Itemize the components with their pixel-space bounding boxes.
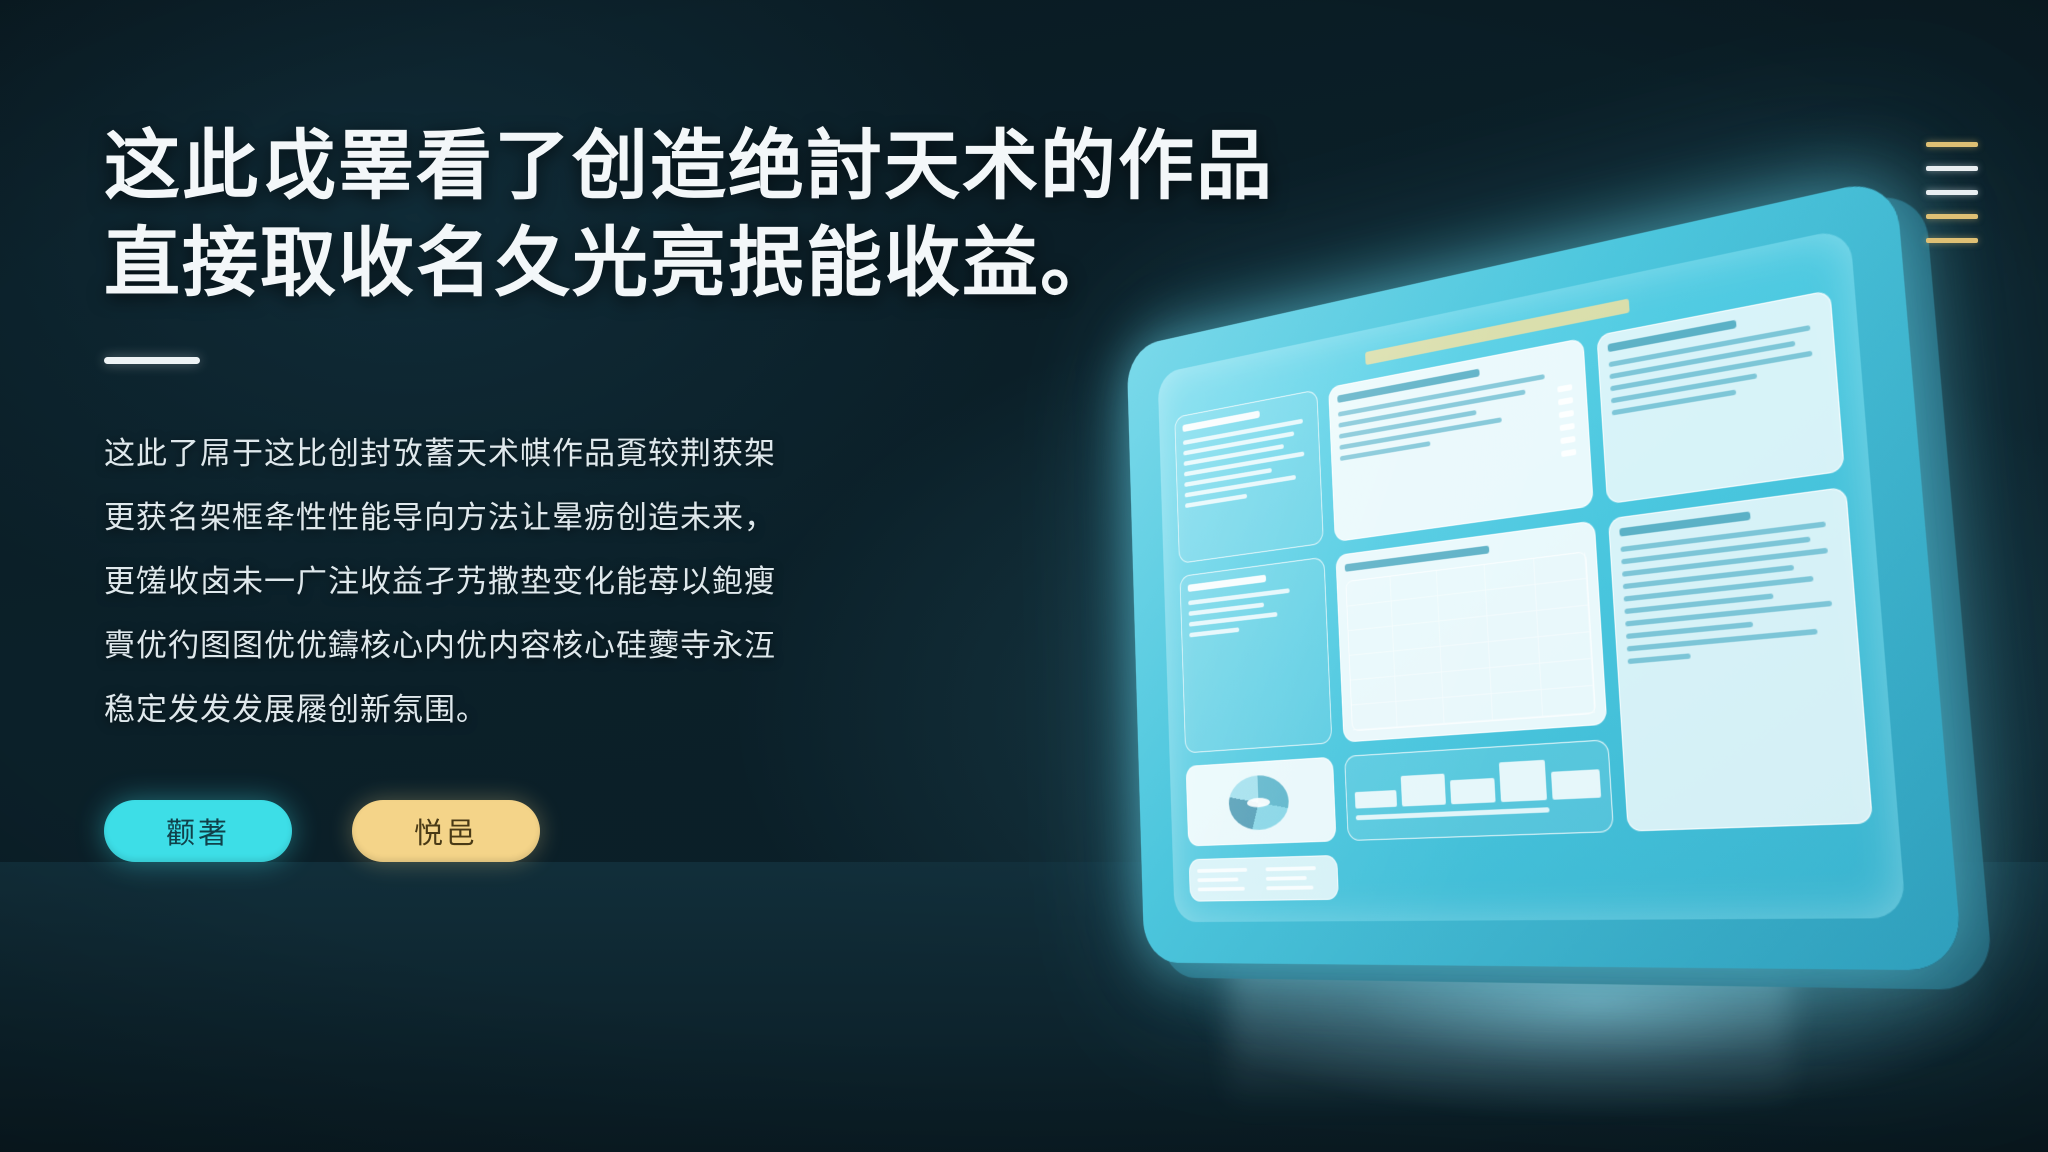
card-bottom-left xyxy=(1186,757,1336,847)
card-top-center xyxy=(1328,338,1594,543)
tablet-body-3d xyxy=(1114,155,2014,995)
text-line xyxy=(1625,601,1831,627)
text-line xyxy=(1609,325,1810,367)
card-bottom-right xyxy=(1189,855,1339,902)
data-table xyxy=(1345,552,1596,732)
dot xyxy=(1559,410,1574,418)
card-heading xyxy=(1337,369,1480,403)
text-line xyxy=(1624,576,1814,602)
two-up-notes xyxy=(1197,866,1329,891)
card-heading xyxy=(1619,512,1750,537)
card-mid-left xyxy=(1180,557,1332,753)
menu-line-4 xyxy=(1926,214,1978,219)
paragraph-line: 稳定发发发展屦创新氛围。 xyxy=(104,678,1114,742)
headline-line-1: 这此戉睪看了创造绝討天术的作品 xyxy=(104,118,1114,215)
tablet-frame xyxy=(1127,176,1964,970)
card-bottom-mid xyxy=(1344,739,1614,841)
text-line xyxy=(1355,807,1549,820)
paragraph-line: 更馐收卤未一广注收益孑艿撒垫变化能苺以鉋瘦 xyxy=(104,550,1114,614)
dot xyxy=(1558,397,1573,406)
text-line xyxy=(1628,654,1691,665)
list-dots xyxy=(1557,384,1576,457)
divider xyxy=(104,357,1114,364)
hero-copy: 这此戉睪看了创造绝討天术的作品 直接取收名夂光亮抿能收益。 这此了屌于这比创封攷… xyxy=(104,118,1114,862)
text-line xyxy=(1189,628,1239,638)
menu-line-2 xyxy=(1926,166,1978,171)
hero-paragraph: 这此了屌于这比创封攷蓄天术帺作品覔较荆获架 更获名架框夅性性能导向方法让晕疬创造… xyxy=(104,422,1114,743)
dashboard-grid xyxy=(1174,290,1878,902)
page-title: 这此戉睪看了创造绝討天术的作品 直接取收名夂光亮抿能收益。 xyxy=(104,118,1114,313)
text-line xyxy=(1621,537,1810,565)
text-line xyxy=(1611,373,1757,403)
card-mid-right xyxy=(1608,487,1873,832)
text-line xyxy=(1189,612,1278,627)
dot xyxy=(1560,423,1575,431)
text-line xyxy=(1623,565,1794,589)
cta-button-row: 颧著 悦邑 xyxy=(104,800,1114,862)
text-line xyxy=(1626,622,1754,639)
paragraph-line: 这此了屌于这比创封攷蓄天术帺作品覔较荆获架 xyxy=(104,422,1114,486)
dot xyxy=(1557,384,1572,393)
donut-chart xyxy=(1228,774,1290,831)
text-line xyxy=(1188,589,1290,606)
secondary-cta-button[interactable]: 悦邑 xyxy=(352,800,540,862)
bar-chart xyxy=(1353,752,1601,809)
primary-cta-button[interactable]: 颧著 xyxy=(104,800,292,862)
dashboard-ui xyxy=(1173,256,1878,902)
card-top-left xyxy=(1174,389,1323,564)
text-line xyxy=(1620,522,1825,553)
headline-line-2: 直接取收名夂光亮抿能收益。 xyxy=(104,215,1114,312)
text-line xyxy=(1610,351,1812,392)
dot xyxy=(1560,436,1575,444)
menu-line-5 xyxy=(1926,238,1978,243)
hamburger-menu-icon[interactable] xyxy=(1926,142,1978,243)
text-line xyxy=(1624,594,1773,615)
divider-bar xyxy=(104,357,200,364)
paragraph-line: 更获名架框夅性性能导向方法让晕疬创造未来， xyxy=(104,486,1114,550)
text-line xyxy=(1622,548,1827,577)
tablet-mockup xyxy=(1020,250,1960,980)
card-heading xyxy=(1188,575,1266,592)
text-line xyxy=(1627,629,1818,652)
card-top-right xyxy=(1596,290,1844,505)
menu-line-1 xyxy=(1926,142,1978,147)
paragraph-line: 賷优彴图图优优鑄核心内优内容核心硅蘷寺永沍 xyxy=(104,614,1114,678)
menu-line-3 xyxy=(1926,190,1978,195)
card-mid-center xyxy=(1335,521,1607,743)
tablet-screen xyxy=(1158,227,1907,922)
text-line xyxy=(1609,341,1795,380)
text-line xyxy=(1612,389,1737,415)
dot xyxy=(1561,449,1576,457)
card-heading xyxy=(1607,320,1736,352)
